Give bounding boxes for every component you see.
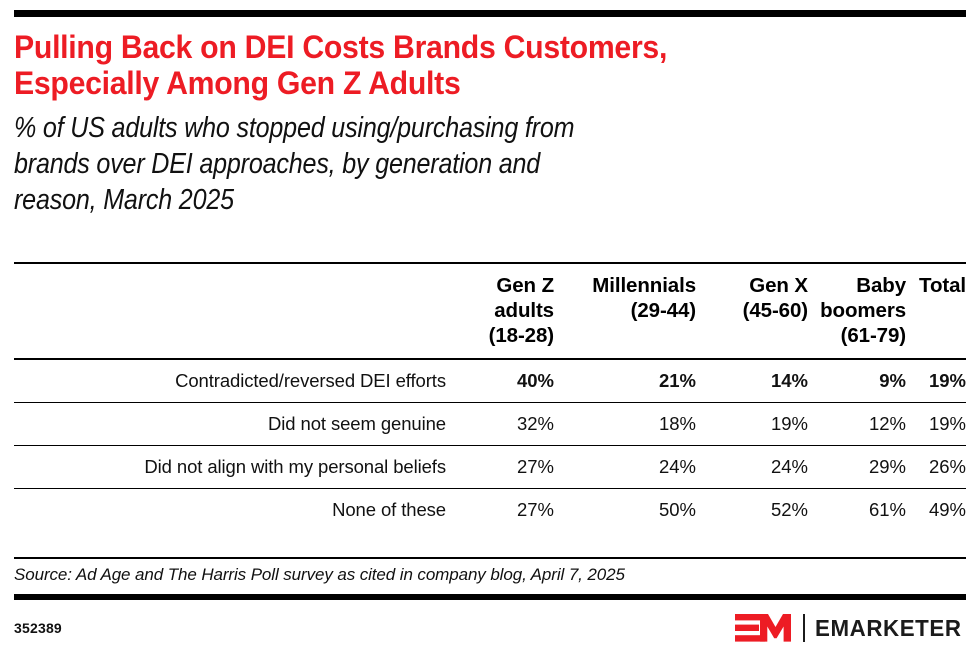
cell-value: 19%: [906, 403, 966, 446]
cell-value: 18%: [554, 403, 696, 446]
row-label: Did not seem genuine: [14, 403, 446, 446]
column-header-millennials-line1: Millennials: [554, 273, 696, 298]
column-header-millennials: Millennials (29-44): [554, 263, 696, 359]
cell-value: 50%: [554, 489, 696, 532]
cell-value: 24%: [696, 446, 808, 489]
cell-value: 49%: [906, 489, 966, 532]
column-header-gen-z: Gen Z adults (18-28): [446, 263, 554, 359]
footer: 352389 EMARKETER: [14, 608, 966, 648]
page-title: Pulling Back on DEI Costs Brands Custome…: [14, 29, 899, 101]
column-header-total-line1: Total: [906, 273, 966, 298]
table-header-row: Gen Z adults (18-28) Millennials (29-44)…: [14, 263, 966, 359]
brand-name: EMARKETER: [815, 615, 962, 642]
cell-value: 32%: [446, 403, 554, 446]
column-header-gen-x: Gen X (45-60): [696, 263, 808, 359]
bottom-rule: [14, 594, 966, 600]
cell-value: 61%: [808, 489, 906, 532]
cell-value: 14%: [696, 359, 808, 403]
row-label: Did not align with my personal beliefs: [14, 446, 446, 489]
chart-page: Pulling Back on DEI Costs Brands Custome…: [0, 10, 980, 656]
column-header-gen-x-line1: Gen X: [696, 273, 808, 298]
top-rule: [14, 10, 966, 17]
table-row: Did not seem genuine 32% 18% 19% 12% 19%: [14, 403, 966, 446]
em-monogram-icon: [735, 613, 793, 643]
column-header-gen-z-line1: Gen Z: [446, 273, 554, 298]
page-subtitle: % of US adults who stopped using/purchas…: [14, 110, 852, 218]
cell-value: 21%: [554, 359, 696, 403]
column-header-baby-boomers-line1: Baby: [808, 273, 906, 298]
column-header-gen-z-line3: (18-28): [446, 323, 554, 348]
source-note: Source: Ad Age and The Harris Poll surve…: [14, 563, 966, 586]
row-label: Contradicted/reversed DEI efforts: [14, 359, 446, 403]
column-header-label: [14, 263, 446, 359]
cell-value: 40%: [446, 359, 554, 403]
brand-divider: [803, 614, 805, 642]
table-header: Gen Z adults (18-28) Millennials (29-44)…: [14, 263, 966, 359]
cell-value: 27%: [446, 446, 554, 489]
data-table: Gen Z adults (18-28) Millennials (29-44)…: [14, 262, 966, 531]
cell-value: 29%: [808, 446, 906, 489]
row-label: None of these: [14, 489, 446, 532]
table-body: Contradicted/reversed DEI efforts 40% 21…: [14, 359, 966, 531]
cell-value: 27%: [446, 489, 554, 532]
data-table-container: Gen Z adults (18-28) Millennials (29-44)…: [14, 262, 966, 531]
column-header-millennials-line2: (29-44): [554, 298, 696, 323]
column-header-baby-boomers-line3: (61-79): [808, 323, 906, 348]
source-rule: [14, 557, 966, 559]
cell-value: 12%: [808, 403, 906, 446]
cell-value: 26%: [906, 446, 966, 489]
cell-value: 9%: [808, 359, 906, 403]
column-header-baby-boomers-line2: boomers: [808, 298, 906, 323]
brand-logo: EMARKETER: [735, 613, 966, 643]
cell-value: 24%: [554, 446, 696, 489]
column-header-gen-z-line2: adults: [446, 298, 554, 323]
column-header-gen-x-line2: (45-60): [696, 298, 808, 323]
cell-value: 19%: [906, 359, 966, 403]
column-header-total: Total: [906, 263, 966, 359]
cell-value: 19%: [696, 403, 808, 446]
table-row: Did not align with my personal beliefs 2…: [14, 446, 966, 489]
table-row: Contradicted/reversed DEI efforts 40% 21…: [14, 359, 966, 403]
report-id: 352389: [14, 620, 62, 636]
table-row: None of these 27% 50% 52% 61% 49%: [14, 489, 966, 532]
cell-value: 52%: [696, 489, 808, 532]
column-header-baby-boomers: Baby boomers (61-79): [808, 263, 906, 359]
